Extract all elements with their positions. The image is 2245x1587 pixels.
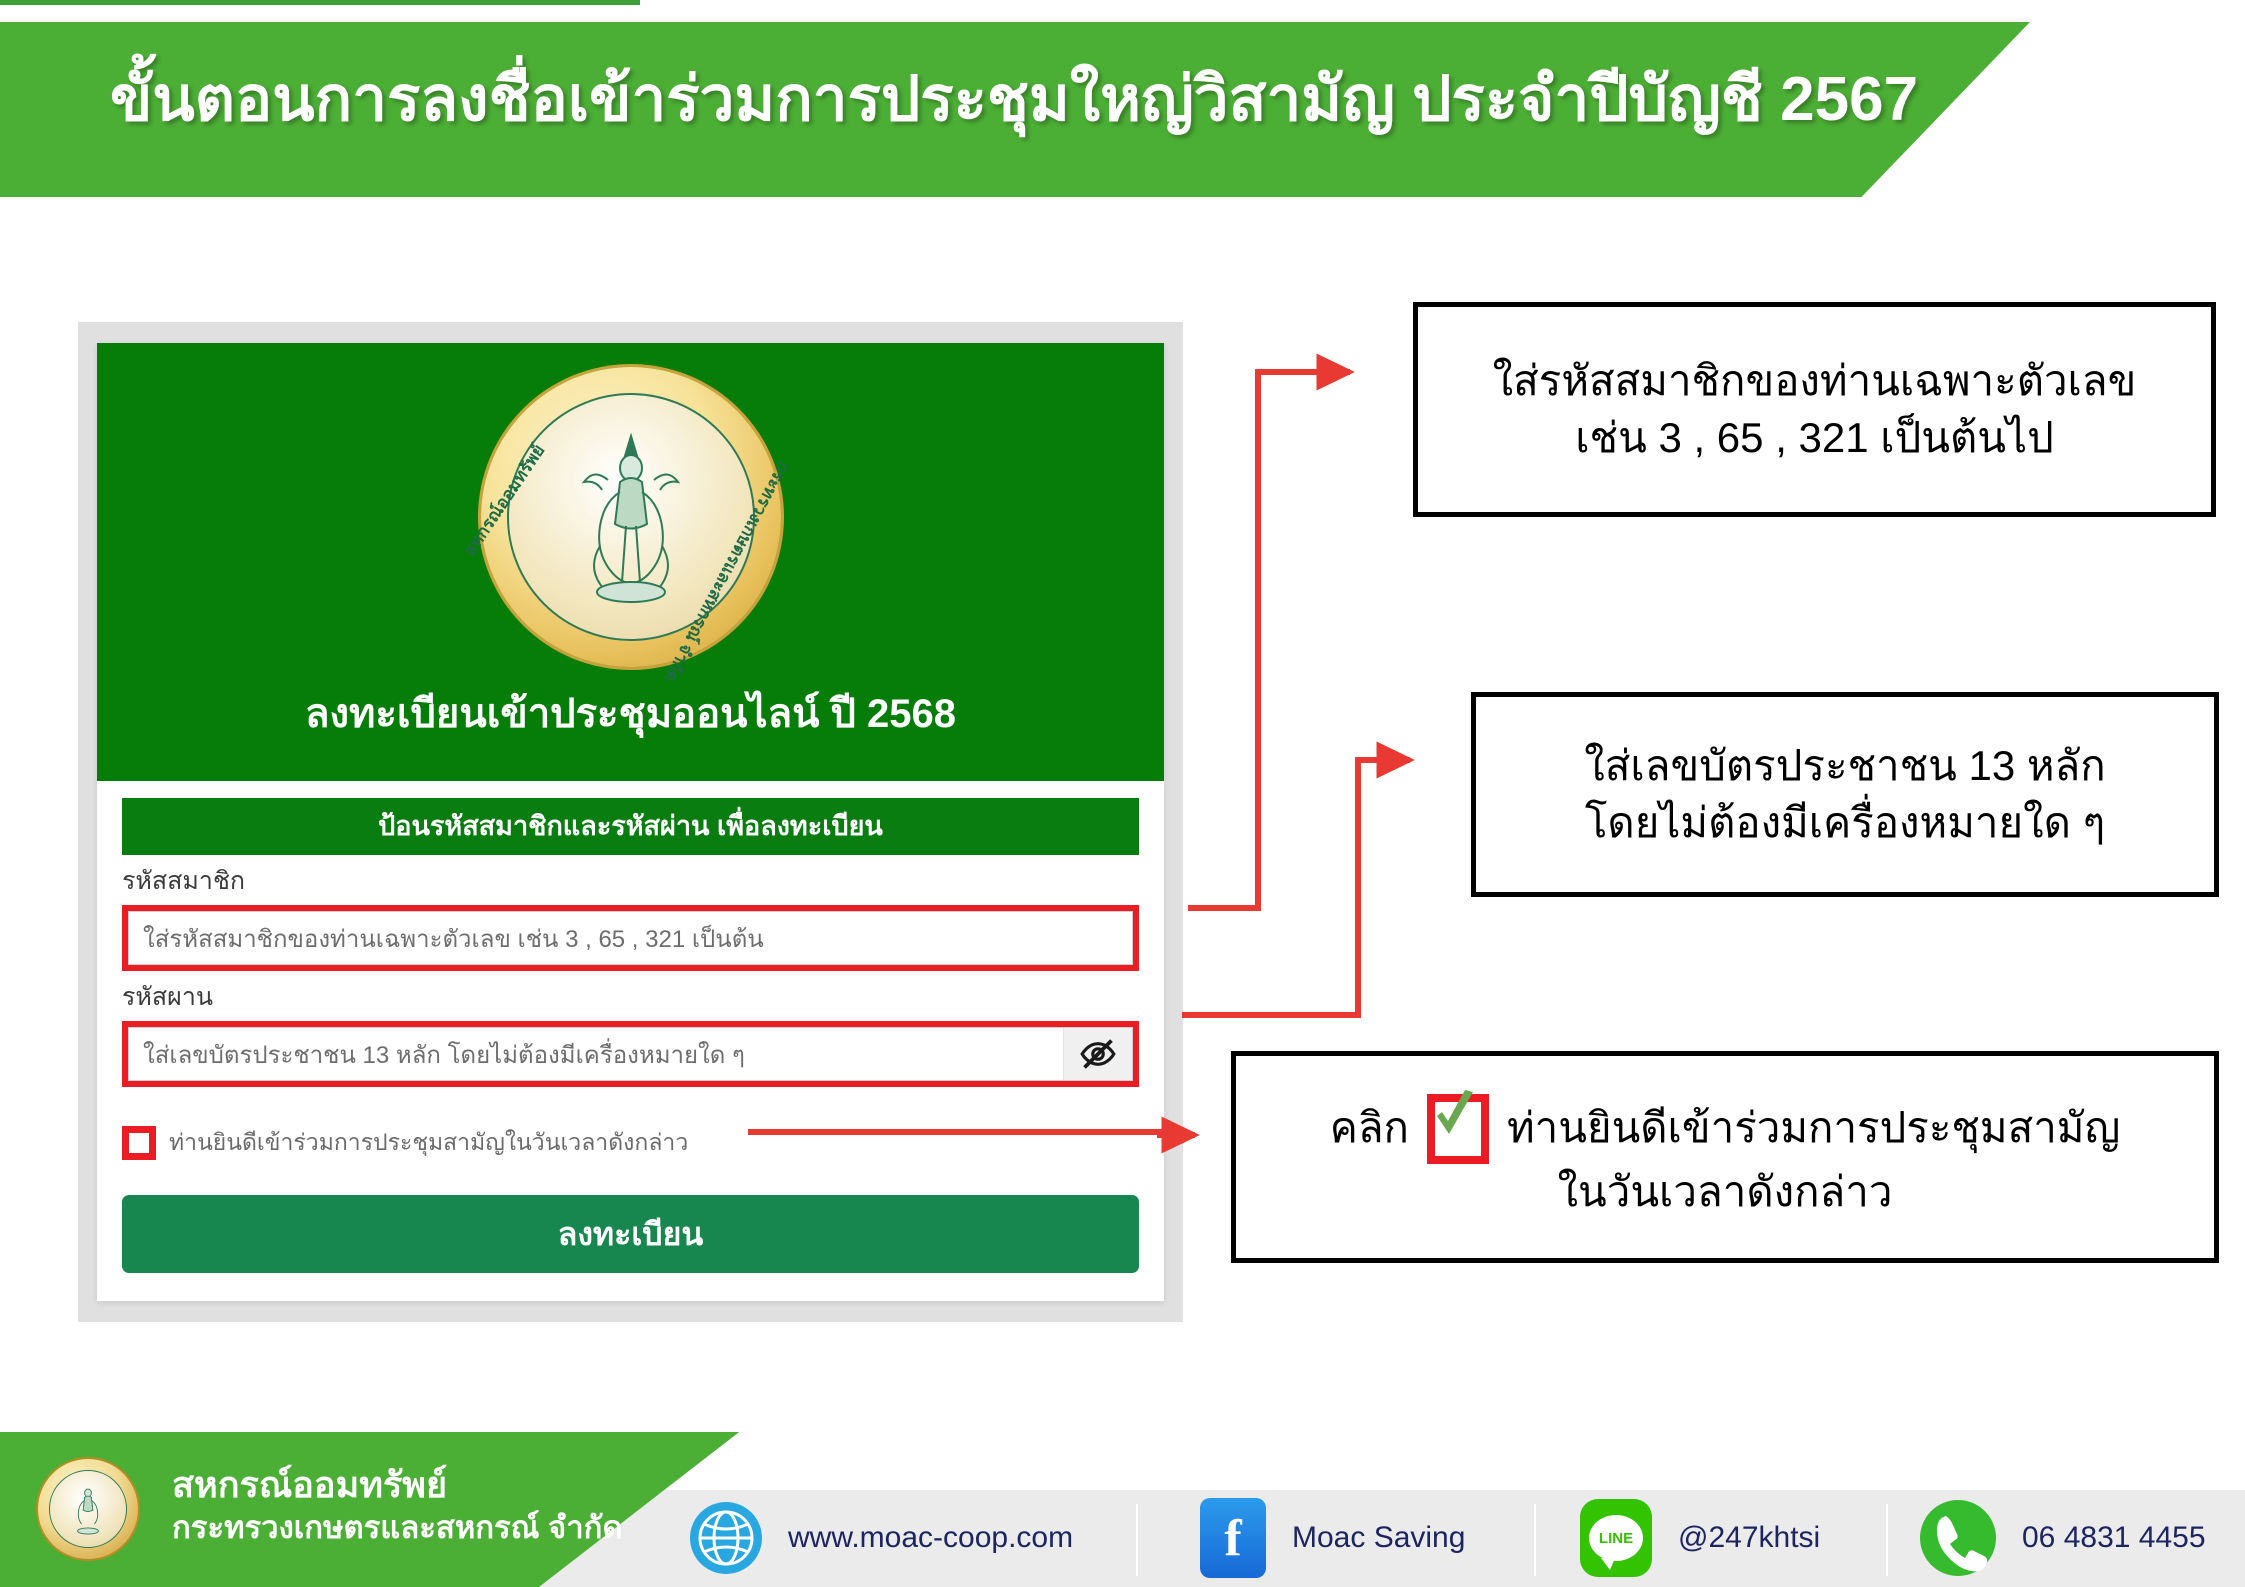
globe-icon [690, 1502, 762, 1574]
contact-phone[interactable]: 06 4831 4455 [1920, 1494, 2206, 1582]
page-title: ขั้นตอนการลงชื่อเข้าร่วมการประชุมใหญ่วิส… [110, 50, 1918, 148]
member-code-label: รหัสสมาชิก [122, 861, 1139, 901]
contact-line-app[interactable]: LINE @247khtsi [1580, 1494, 1820, 1582]
contact-website[interactable]: www.moac-coop.com [690, 1494, 1073, 1582]
registration-form: ป้อนรหัสสมาชิกและรหัสผ่าน เพื่อลงทะเบียน… [97, 781, 1164, 1273]
callout-member-line2: เช่น 3 , 65 , 321 เป็นต้นไป [1575, 410, 2054, 467]
arrow-member-code [1188, 372, 1350, 908]
form-heading-bar: ป้อนรหัสสมาชิกและรหัสผ่าน เพื่อลงทะเบียน [122, 798, 1139, 855]
globe-glyph [690, 1502, 762, 1574]
footer-seal-emblem-icon [65, 1476, 111, 1540]
login-card: สหกรณ์ออมทรัพย์ กระทรวงเกษตรและสหกรณ์ จำ… [78, 322, 1183, 1322]
callout-member-code: ใส่รหัสสมาชิกของท่านเฉพาะตัวเลข เช่น 3 ,… [1413, 302, 2216, 517]
consent-label: ท่านยินดีเข้าร่วมการประชุมสามัญในวันเวลา… [169, 1125, 688, 1161]
callout-member-line1: ใส่รหัสสมาชิกของท่านเฉพาะตัวเลข [1493, 353, 2137, 410]
callout-consent: คลิก ท่านยินดีเข้าร่วมการประชุมสามัญ ในว… [1231, 1051, 2219, 1263]
password-input[interactable]: ใส่เลขบัตรประชาชน 13 หลัก โดยไม่ต้องมีเค… [128, 1027, 1133, 1081]
contact-website-text: www.moac-coop.com [788, 1521, 1073, 1555]
callout-idcard-line1: ใส่เลขบัตรประชาชน 13 หลัก [1584, 738, 2105, 795]
password-highlight: ใส่เลขบัตรประชาชน 13 หลัก โดยไม่ต้องมีเค… [122, 1021, 1139, 1087]
cooperative-seal-icon: สหกรณ์ออมทรัพย์ กระทรวงเกษตรและสหกรณ์ จำ… [481, 367, 781, 667]
footer-org-line1: สหกรณ์ออมทรัพย์ [172, 1462, 623, 1508]
callout-consent-line1: คลิก ท่านยินดีเข้าร่วมการประชุมสามัญ [1330, 1094, 2121, 1164]
green-check-icon [1427, 1094, 1489, 1164]
callout-consent-prefix: คลิก [1330, 1100, 1409, 1157]
member-code-input[interactable]: ใส่รหัสสมาชิกของท่านเฉพาะตัวเลข เช่น 3 ,… [128, 911, 1133, 965]
facebook-icon: f [1200, 1498, 1266, 1578]
contact-line-text: @247khtsi [1678, 1521, 1820, 1555]
member-code-highlight: ใส่รหัสสมาชิกของท่านเฉพาะตัวเลข เช่น 3 ,… [122, 905, 1139, 971]
footer-divider [1534, 1504, 1536, 1576]
eye-off-glyph [1079, 1035, 1117, 1073]
password-label: รหัสผาน [122, 977, 1139, 1017]
callout-idcard-line2: โดยไม่ต้องมีเครื่องหมายใด ๆ [1585, 795, 2105, 852]
seal-ring-text: สหกรณ์ออมทรัพย์ กระทรวงเกษตรและสหกรณ์ จำ… [481, 367, 781, 667]
password-placeholder: ใส่เลขบัตรประชาชน 13 หลัก โดยไม่ต้องมีเค… [129, 1035, 1063, 1074]
footer-org-line2: กระทรวงเกษตรและสหกรณ์ จำกัด [172, 1508, 623, 1548]
contact-phone-text: 06 4831 4455 [2022, 1521, 2206, 1555]
footer-divider [1136, 1504, 1138, 1576]
login-card-inner: สหกรณ์ออมทรัพย์ กระทรวงเกษตรและสหกรณ์ จำ… [97, 343, 1164, 1301]
line-badge-text: LINE [1589, 1515, 1643, 1561]
contact-facebook[interactable]: f Moac Saving [1200, 1494, 1465, 1582]
logo-panel: สหกรณ์ออมทรัพย์ กระทรวงเกษตรและสหกรณ์ จำ… [97, 343, 1164, 781]
consent-checkbox[interactable] [122, 1126, 156, 1160]
footer-divider [1886, 1504, 1888, 1576]
member-code-placeholder: ใส่รหัสสมาชิกของท่านเฉพาะตัวเลข เช่น 3 ,… [129, 919, 1132, 958]
line-icon: LINE [1580, 1499, 1652, 1577]
phone-icon [1920, 1500, 1996, 1576]
footer-org-name: สหกรณ์ออมทรัพย์ กระทรวงเกษตรและสหกรณ์ จำ… [172, 1462, 623, 1548]
register-button[interactable]: ลงทะเบียน [122, 1195, 1139, 1273]
phone-glyph [1920, 1500, 1996, 1576]
callout-id-card: ใส่เลขบัตรประชาชน 13 หลัก โดยไม่ต้องมีเค… [1471, 692, 2219, 897]
eye-off-icon[interactable] [1063, 1028, 1132, 1080]
contact-facebook-text: Moac Saving [1292, 1521, 1465, 1555]
arrow-id-card [1182, 760, 1410, 1015]
top-accent-rule [0, 0, 640, 5]
panel-caption: ลงทะเบียนเข้าประชุมออนไลน์ ปี 2568 [305, 681, 956, 745]
callout-consent-text1: ท่านยินดีเข้าร่วมการประชุมสามัญ [1507, 1100, 2120, 1157]
green-check-glyph [1431, 1090, 1477, 1142]
footer-seal-icon [38, 1459, 138, 1559]
callout-consent-line2: ในวันเวลาดังกล่าว [1558, 1164, 1893, 1221]
consent-row[interactable]: ท่านยินดีเข้าร่วมการประชุมสามัญในวันเวลา… [122, 1125, 1139, 1161]
